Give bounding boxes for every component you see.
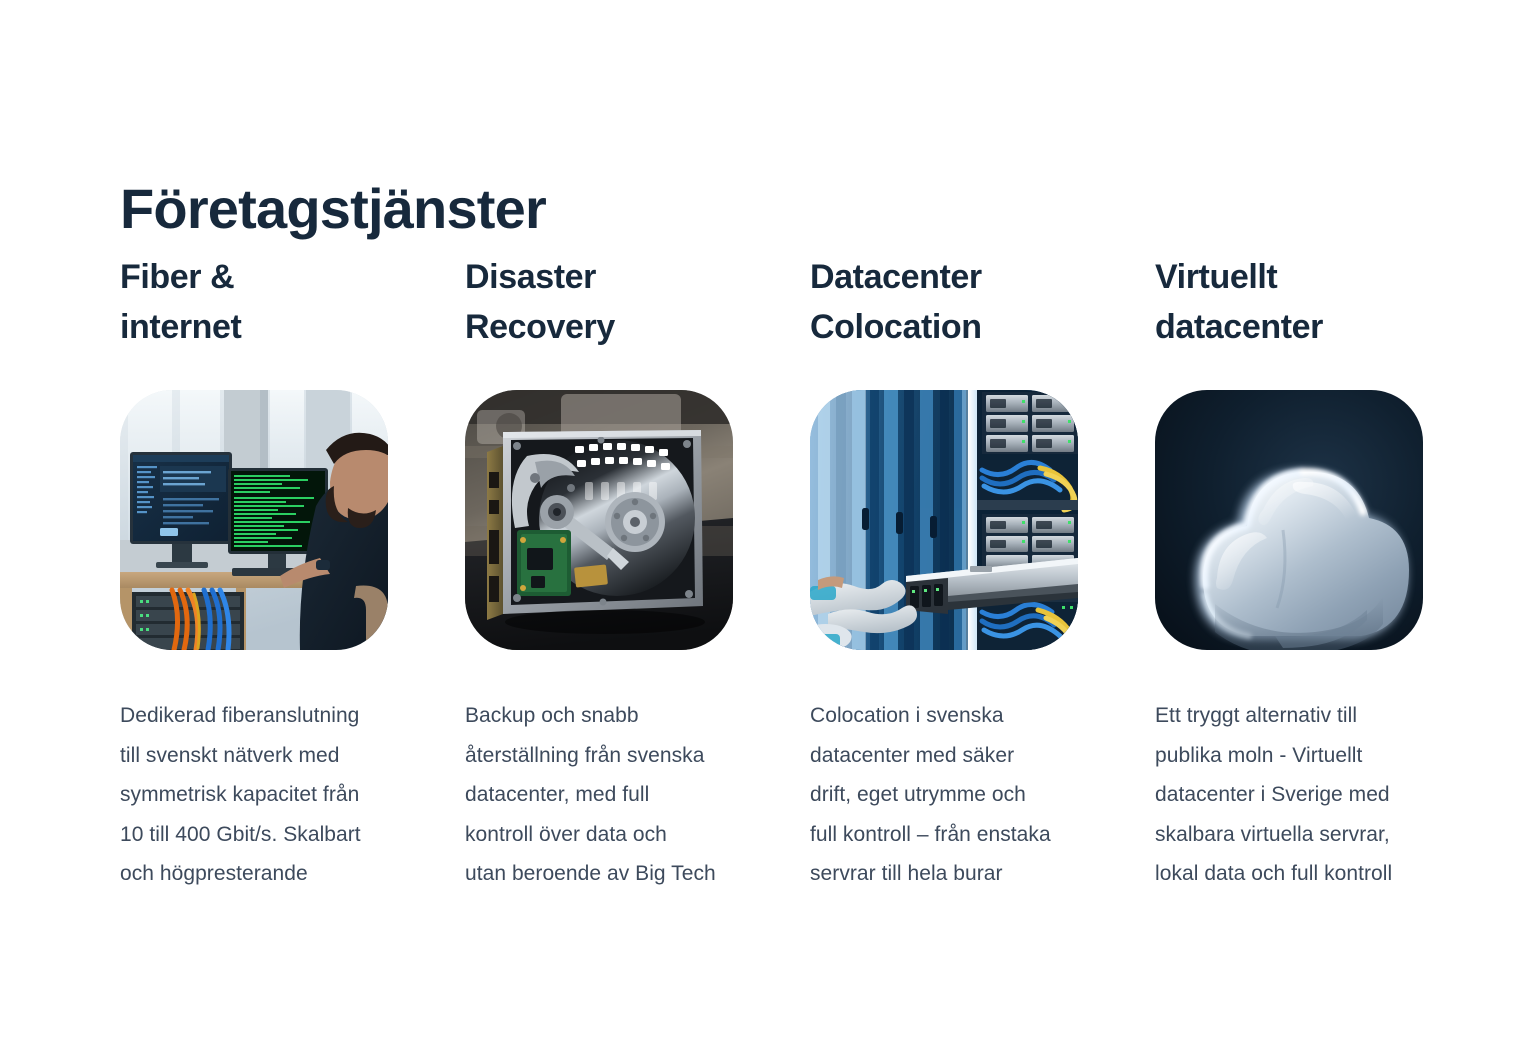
service-card-description: Backup och snabb återställning från sven…: [465, 696, 733, 894]
service-card-description: Ett tryggt alternativ till publika moln …: [1155, 696, 1423, 894]
service-card-title: Datacenter Colocation: [810, 252, 1078, 352]
technician-at-dual-monitors-photo: [120, 390, 388, 650]
service-card-grid: Fiber & internet: [120, 252, 1440, 894]
glossy-cloud-icon-graphic: [1155, 390, 1423, 650]
service-card-title: Virtuellt datacenter: [1155, 252, 1423, 352]
service-card-description: Dedikerad fiberanslutning till svenskt n…: [120, 696, 388, 894]
services-page: Företagstjänster Fiber & internet: [0, 0, 1533, 1040]
service-card-fiber-internet[interactable]: Fiber & internet: [120, 252, 388, 894]
service-card-datacenter-colocation[interactable]: Datacenter Colocation: [810, 252, 1078, 894]
service-card-description: Colocation i svenska datacenter med säke…: [810, 696, 1078, 894]
page-title: Företagstjänster: [120, 180, 546, 239]
open-hard-disk-drive-photo: [465, 390, 733, 650]
service-card-title: Disaster Recovery: [465, 252, 733, 352]
service-card-title: Fiber & internet: [120, 252, 388, 352]
server-rack-installation-photo: [810, 390, 1078, 650]
service-card-disaster-recovery[interactable]: Disaster Recovery: [465, 252, 733, 894]
service-card-virtual-datacenter[interactable]: Virtuellt datacenter: [1155, 252, 1423, 894]
